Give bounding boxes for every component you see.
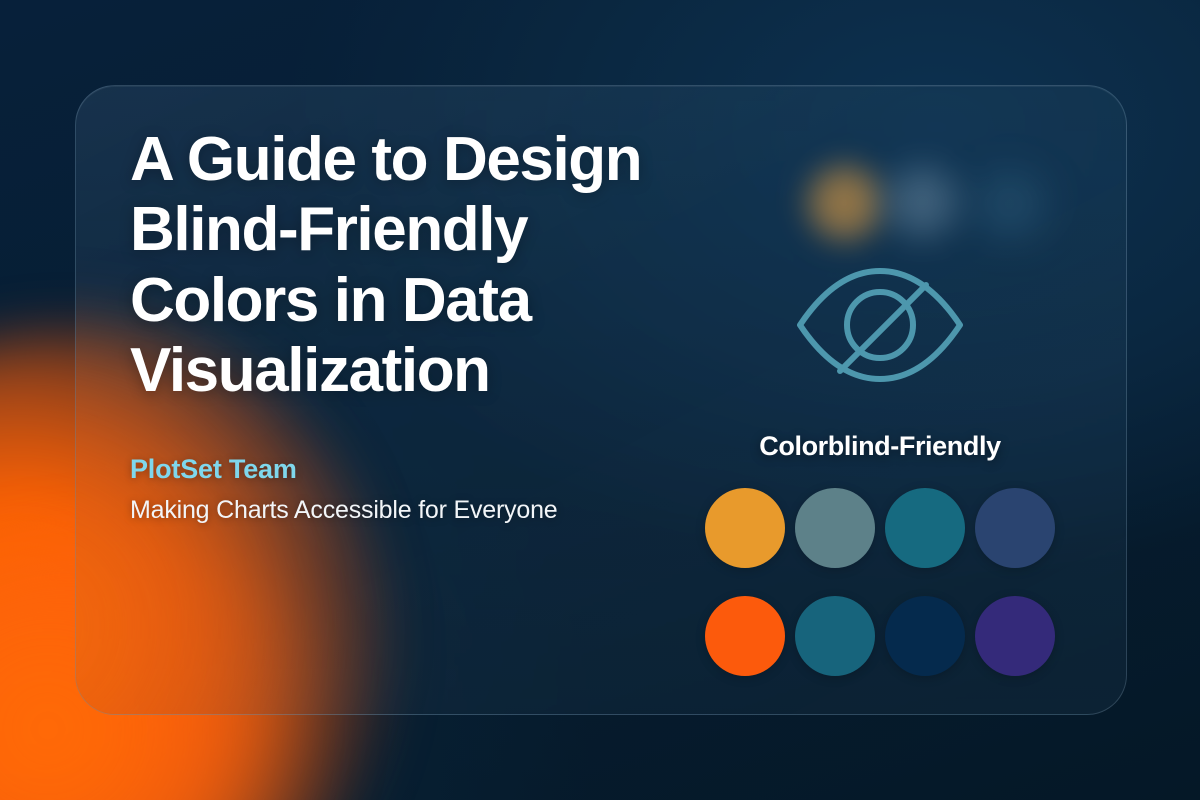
swatch-deep-teal[interactable] bbox=[795, 596, 875, 676]
swatch-indigo[interactable] bbox=[975, 596, 1055, 676]
color-swatch-grid bbox=[705, 488, 1055, 676]
swatch-slate-teal[interactable] bbox=[795, 488, 875, 568]
title-line-2: Blind-Friendly bbox=[130, 195, 527, 264]
tagline: Making Charts Accessible for Everyone bbox=[130, 494, 600, 527]
eye-slash-icon bbox=[690, 255, 1070, 395]
title-line-1: A Guide to Design bbox=[130, 125, 641, 194]
title-line-3: Colors in Data bbox=[130, 266, 531, 335]
visual-block: Colorblind-Friendly bbox=[690, 255, 1070, 676]
title-line-4: Visualization bbox=[130, 336, 490, 405]
hero-text-block: A Guide to Design Blind-Friendly Colors … bbox=[130, 125, 670, 527]
swatch-amber[interactable] bbox=[705, 488, 785, 568]
palette-label: Colorblind-Friendly bbox=[690, 431, 1070, 462]
swatch-dark-navy[interactable] bbox=[885, 596, 965, 676]
page-title: A Guide to Design Blind-Friendly Colors … bbox=[130, 125, 670, 406]
swatch-teal[interactable] bbox=[885, 488, 965, 568]
swatch-navy-blue[interactable] bbox=[975, 488, 1055, 568]
author-byline: PlotSet Team bbox=[130, 454, 670, 485]
eye-slash-glyph bbox=[794, 265, 966, 385]
swatch-orange[interactable] bbox=[705, 596, 785, 676]
poster-canvas: A Guide to Design Blind-Friendly Colors … bbox=[0, 0, 1200, 800]
